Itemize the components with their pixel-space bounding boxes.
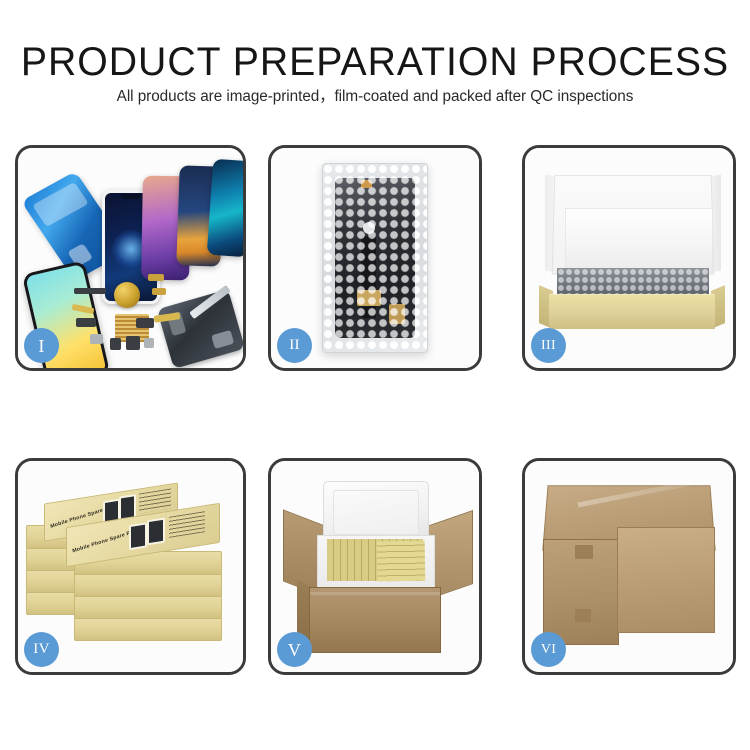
camera-module-icon <box>110 338 121 350</box>
protective-tab-icon <box>361 180 372 188</box>
carton-right-face-icon <box>617 527 715 633</box>
process-step-panel-4[interactable]: Mobile Phone Spare Parts Mobile Phone Sp… <box>15 458 246 675</box>
gold-connector-icon <box>148 274 164 281</box>
process-step-panel-5[interactable]: V <box>268 458 482 675</box>
process-step-panel-6[interactable]: VI <box>522 458 736 675</box>
packed-retail-boxes-icon <box>377 541 426 582</box>
metal-bracket-icon <box>90 334 103 344</box>
gold-connector-icon <box>389 304 405 324</box>
packing-tape-icon <box>575 545 593 559</box>
step-badge-3: III <box>531 328 566 363</box>
small-module-icon <box>76 318 96 327</box>
phone-back-housing-icon <box>157 289 243 368</box>
lcd-screen-assembly-icon <box>335 178 415 338</box>
product-preparation-infographic: PRODUCT PREPARATION PROCESS All products… <box>0 0 750 750</box>
kraft-box-front-icon <box>549 294 715 329</box>
gold-connector-icon <box>152 288 166 295</box>
retail-box <box>74 617 222 641</box>
ic-chip-icon <box>136 318 154 328</box>
bubble-wrap-bag-icon <box>322 163 428 353</box>
screw-set-icon <box>144 338 154 348</box>
retail-box-stack-icon: Mobile Phone Spare Parts Mobile Phone Sp… <box>26 475 224 665</box>
flex-cable-icon <box>74 288 106 294</box>
camera-hole-icon <box>363 222 375 234</box>
step-badge-1: I <box>24 328 59 363</box>
packing-tape-icon <box>575 609 591 622</box>
step-badge-4: IV <box>24 632 59 667</box>
carton-front-icon <box>309 587 441 653</box>
process-step-panel-3[interactable]: III <box>522 145 736 371</box>
process-step-panel-2[interactable]: II <box>268 145 482 371</box>
gold-connector-icon <box>357 290 381 306</box>
step-badge-2: II <box>277 328 312 363</box>
speaker-coil-icon <box>114 282 140 308</box>
teal-phone-icon <box>207 159 243 258</box>
retail-box <box>74 595 222 619</box>
phone-screen-photo-icon <box>147 518 165 546</box>
retail-box <box>74 573 222 597</box>
phone-screen-photo-icon <box>129 522 147 550</box>
process-step-grid: I II <box>0 0 750 750</box>
vibration-motor-icon <box>126 336 140 350</box>
step-badge-6: VI <box>531 632 566 667</box>
process-step-panel-1[interactable]: I <box>15 145 246 371</box>
foam-sheet-icon <box>565 208 713 274</box>
step-badge-5: V <box>277 632 312 667</box>
